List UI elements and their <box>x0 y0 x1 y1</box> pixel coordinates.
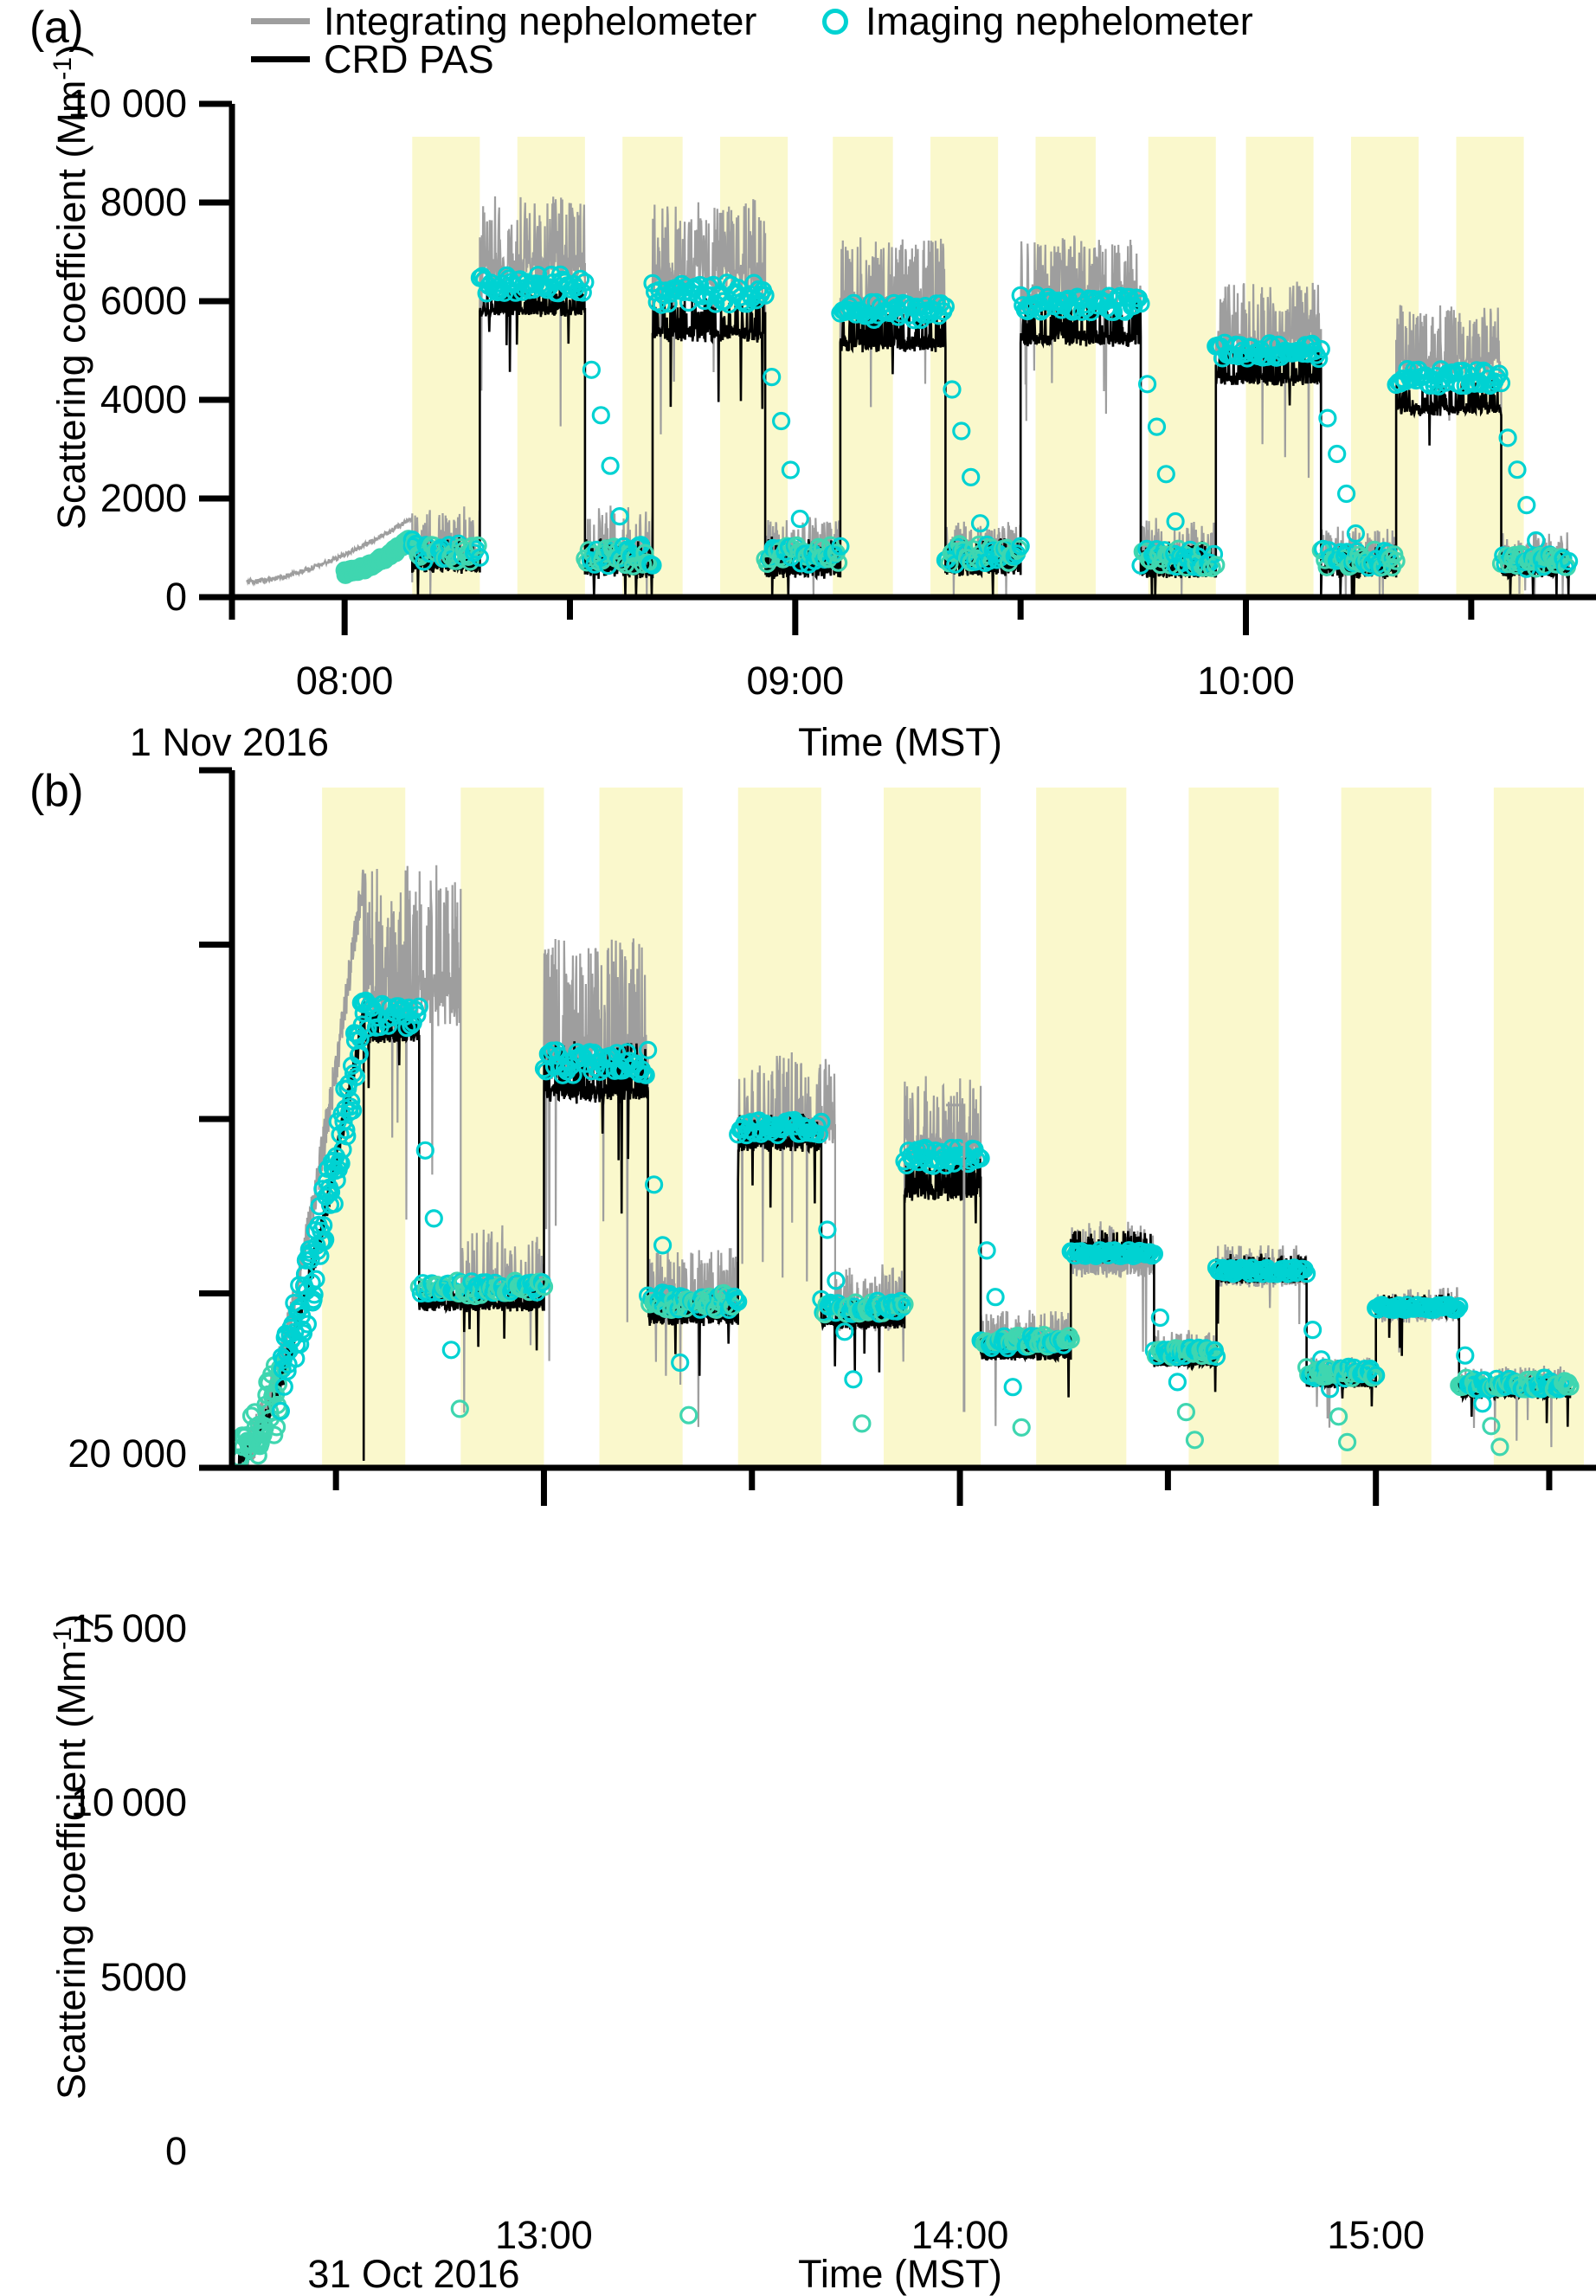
imaging-nephelometer-point <box>426 1211 441 1226</box>
y-axis-tick-label: 0 <box>165 2132 187 2171</box>
y-axis-title-text: Scattering coefficient (Mm <box>49 80 93 530</box>
panel-b-date-label: 31 Oct 2016 <box>307 2254 519 2293</box>
imaging-nephelometer-point <box>1169 1374 1185 1390</box>
imaging-nephelometer-point <box>593 408 608 423</box>
y-axis-title-text: Scattering coefficient (Mm <box>49 1650 93 2100</box>
legend-item-crd-pas: CRD PAS <box>251 40 494 79</box>
circle-marker-icon <box>822 9 848 35</box>
y-axis-tick-label: 20 000 <box>68 1434 187 1473</box>
panel-b-y-axis-title: Scattering coefficient (Mm-1) <box>50 1614 91 2100</box>
imaging-nephelometer-point <box>1005 1380 1020 1395</box>
imaging-nephelometer-point <box>681 1407 697 1423</box>
panel-b-x-axis-title: Time (MST) <box>798 2254 1002 2293</box>
x-axis-tick-label: 14:00 <box>911 2216 1009 2254</box>
panel-b-letter: (b) <box>29 769 83 814</box>
imaging-nephelometer-point <box>602 458 618 473</box>
shaded-band <box>1494 788 1584 1468</box>
legend-label-integrating-nephelometer: Integrating nephelometer <box>324 2 756 41</box>
panel-b-plot <box>0 684 1596 1658</box>
x-axis-tick-label: 15:00 <box>1327 2216 1425 2254</box>
y-axis-tick-label: 5000 <box>100 1958 187 1997</box>
legend-label-crd-pas: CRD PAS <box>324 40 494 79</box>
shaded-band <box>518 137 585 597</box>
y-axis-tick-label: 15 000 <box>71 1609 187 1648</box>
imaging-nephelometer-point <box>988 1289 1003 1305</box>
imaging-nephelometer-point <box>854 1416 870 1431</box>
shaded-band <box>1036 137 1096 597</box>
y-axis-tick-label: 2000 <box>100 479 187 518</box>
figure-root: (a) Integrating nephelometer CRD PAS Ima… <box>0 0 1596 1658</box>
y-axis-tick-label: 0 <box>165 577 187 616</box>
legend-label-imaging-nephelometer: Imaging nephelometer <box>866 2 1253 41</box>
y-axis-tick-label: 4000 <box>100 380 187 419</box>
legend-item-integrating-nephelometer: Integrating nephelometer <box>251 2 756 41</box>
shaded-bands <box>412 137 1523 597</box>
shaded-band <box>1036 788 1126 1468</box>
shaded-band <box>460 788 544 1468</box>
imaging-nephelometer-point <box>1329 447 1345 462</box>
line-swatch-icon <box>251 56 310 62</box>
imaging-nephelometer-point <box>846 1372 861 1387</box>
imaging-nephelometer-point <box>792 511 808 527</box>
imaging-nephelometer-point <box>443 1342 459 1358</box>
panel-b: (b) Scattering coefficient (Mm-1) 050001… <box>0 684 1596 1658</box>
shaded-band <box>833 137 892 597</box>
y-axis-tick-label: 10 000 <box>68 84 187 123</box>
y-axis-tick-label: 6000 <box>100 281 187 320</box>
y-axis-tick-label: 10 000 <box>71 1783 187 1822</box>
y-axis-tick-label: 8000 <box>100 183 187 222</box>
shaded-band <box>884 788 981 1468</box>
legend: Integrating nephelometer CRD PAS Imaging… <box>251 2 1549 80</box>
legend-item-imaging-nephelometer: Imaging nephelometer <box>805 2 1253 41</box>
x-axis-tick-label: 13:00 <box>495 2216 593 2254</box>
shaded-band <box>1149 137 1216 597</box>
y-axis-title-paren: ) <box>49 44 93 57</box>
line-swatch-icon <box>251 18 310 24</box>
y-axis-title-exponent: -1 <box>48 57 77 80</box>
imaging-nephelometer-point <box>1014 1419 1029 1435</box>
shaded-band <box>600 788 683 1468</box>
